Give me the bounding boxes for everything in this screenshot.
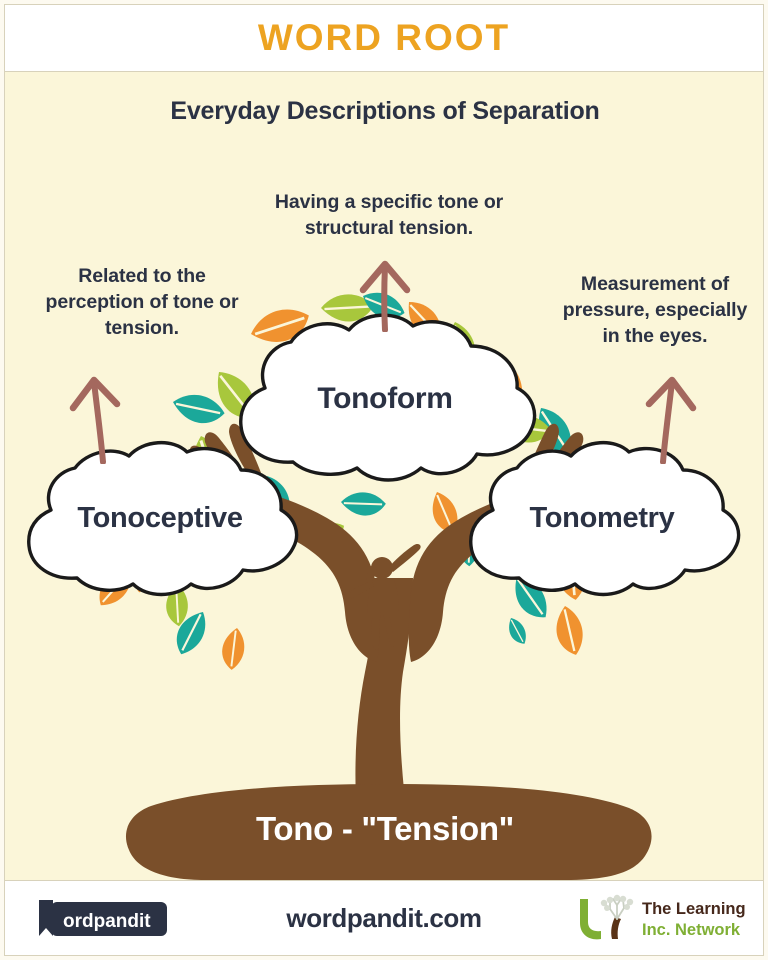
poster-body: Everyday Descriptions of Separation bbox=[4, 72, 764, 880]
arrow-up-right bbox=[633, 368, 705, 464]
description-line: in the eyes. bbox=[530, 324, 764, 350]
description-line: structural tension. bbox=[205, 216, 573, 242]
description-line: Measurement of bbox=[530, 272, 764, 298]
description-tonoform: Having a specific tone or structural ten… bbox=[205, 190, 573, 242]
description-line: Related to the bbox=[4, 264, 287, 290]
infographic-poster: WORD ROOT Everyday Descriptions of Separ… bbox=[0, 0, 768, 960]
description-tonometry: Measurement of pressure, especially in t… bbox=[530, 272, 764, 350]
cloud-bubble-tonoceptive[interactable]: Tonoceptive bbox=[15, 436, 305, 602]
header-bar: WORD ROOT bbox=[4, 4, 764, 72]
partner-logo-line1: The Learning bbox=[642, 900, 746, 918]
the-learning-inc-network-logo[interactable]: The Learning Inc. Network bbox=[572, 893, 747, 943]
description-tonoceptive: Related to the perception of tone or ten… bbox=[4, 264, 287, 342]
description-line: pressure, especially bbox=[530, 298, 764, 324]
cloud-label: Tonoceptive bbox=[15, 502, 305, 535]
page-title: WORD ROOT bbox=[258, 17, 510, 59]
description-line: Having a specific tone or bbox=[205, 190, 573, 216]
root-word: Tono - "Tension" bbox=[5, 810, 764, 848]
description-line: tension. bbox=[4, 316, 287, 342]
arrow-up-left bbox=[61, 368, 133, 464]
wordpandit-logo-text: ordpandit bbox=[63, 911, 151, 932]
arrow-up-top bbox=[349, 254, 421, 332]
wordpandit-logo[interactable]: ordpandit bbox=[33, 898, 173, 940]
description-line: perception of tone or bbox=[4, 290, 287, 316]
cloud-label: Tonoform bbox=[227, 382, 543, 416]
partner-logo-line2: Inc. Network bbox=[642, 921, 741, 939]
cloud-label: Tonometry bbox=[457, 502, 747, 535]
footer-bar: wordpandit.com ordpandit bbox=[4, 880, 764, 956]
